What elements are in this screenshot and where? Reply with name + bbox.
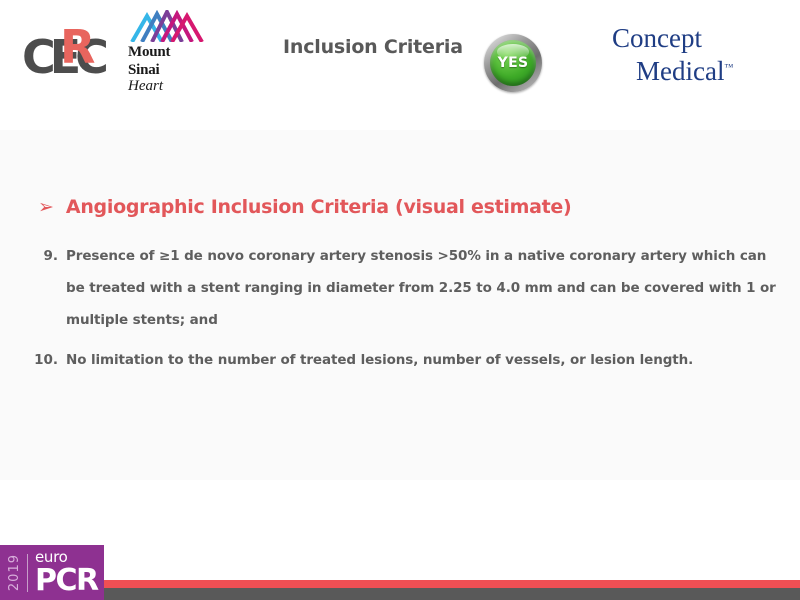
trademark-symbol: ™ [724, 62, 733, 72]
yes-badge: YES [484, 34, 542, 92]
mount-sinai-line-1: Mount [128, 45, 206, 60]
cerc-logo-accent-letter: R [60, 22, 95, 72]
concept-medical-logo: Concept Medical™ [612, 24, 733, 86]
slide-header: CEC R Mount Sinai Heart Inclusion Criter… [0, 0, 800, 130]
footer-bar-gray [104, 588, 800, 600]
footer-bar-red [104, 580, 800, 588]
mount-sinai-line-2: Sinai [128, 63, 206, 78]
list-item: 10. No limitation to the number of treat… [28, 344, 778, 376]
criteria-list: 9. Presence of ≥1 de novo coronary arter… [28, 240, 778, 384]
europcr-wordmark: euro PCR [35, 550, 98, 596]
europcr-logo: 2019 euro PCR [0, 545, 104, 600]
arrow-bullet-icon: ➢ [38, 197, 54, 219]
list-item-text: Presence of ≥1 de novo coronary artery s… [66, 240, 778, 336]
europcr-pcr-text: PCR [35, 566, 98, 596]
yes-badge-label: YES [498, 55, 529, 71]
concept-medical-word: Medical [636, 56, 724, 86]
list-item-number: 9. [28, 240, 66, 336]
mount-sinai-line-3: Heart [128, 78, 206, 95]
europcr-divider [27, 554, 28, 592]
concept-medical-line-2: Medical™ [612, 53, 733, 86]
concept-medical-line-1: Concept [612, 24, 733, 53]
page-title: Inclusion Criteria [283, 36, 463, 58]
section-heading: ➢ Angiographic Inclusion Criteria (visua… [38, 196, 571, 219]
europcr-year: 2019 [7, 554, 22, 591]
mount-sinai-heart-logo: Mount Sinai Heart [128, 10, 206, 95]
section-heading-text: Angiographic Inclusion Criteria (visual … [66, 196, 571, 218]
mount-sinai-chevrons-icon [128, 10, 206, 42]
yes-badge-inner: YES [490, 40, 536, 86]
slide-content-panel: ➢ Angiographic Inclusion Criteria (visua… [0, 130, 800, 480]
list-item-number: 10. [28, 344, 66, 376]
list-item: 9. Presence of ≥1 de novo coronary arter… [28, 240, 778, 336]
cerc-logo: CEC R [22, 22, 114, 88]
list-item-text: No limitation to the number of treated l… [66, 344, 778, 376]
